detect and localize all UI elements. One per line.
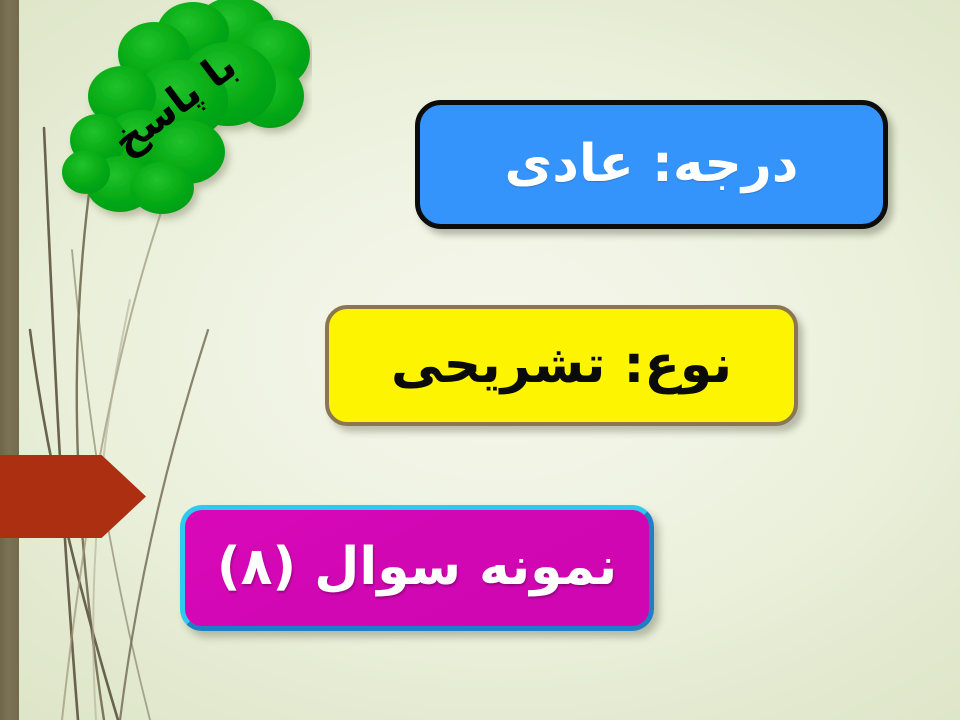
type-box[interactable]: نوع: تشریحی	[325, 305, 798, 426]
degree-box-label: درجه: عادی	[505, 136, 799, 193]
cloud-callout-label: با پاسخ	[104, 43, 245, 165]
cloud-callout: با پاسخ	[42, 0, 312, 242]
left-brown-bar	[0, 0, 19, 720]
degree-box[interactable]: درجه: عادی	[415, 100, 888, 229]
sample-question-box[interactable]: نمونه سوال (۸)	[180, 505, 654, 631]
type-box-label: نوع: تشریحی	[391, 337, 732, 394]
sample-question-box-label: نمونه سوال (۸)	[217, 539, 617, 596]
slide-canvas: با پاسخ درجه: عادی نوع: تشریحی نمونه سوا…	[0, 0, 960, 720]
rust-arrow-shape	[0, 455, 146, 538]
cloud-callout-text-wrapper: با پاسخ	[42, 0, 312, 242]
